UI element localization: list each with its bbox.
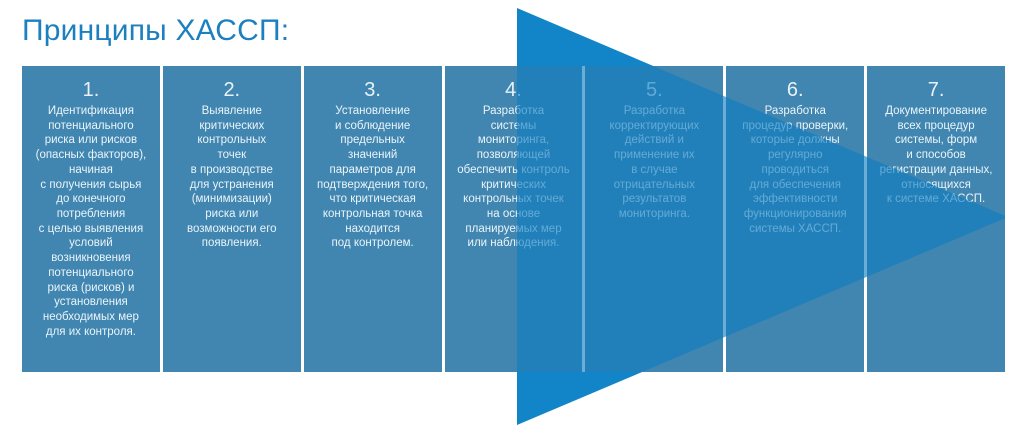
haccp-principles-infographic: Принципы ХАССП: 1. Идентификация потенци… [0,0,1024,434]
principle-column-3: 3. Установление и соблюдение предельных … [304,66,442,372]
principle-number: 3. [310,80,436,101]
principle-text: Выявление критических контрольных точек … [169,104,295,251]
principle-number: 6. [732,80,858,101]
principle-number: 7. [873,80,999,101]
principle-column-2: 2. Выявление критических контрольных точ… [163,66,301,372]
principle-column-5: 5. Разработка корректирующих действий и … [585,66,723,372]
principle-column-6-content: 6. Разработка процедур проверки, которые… [726,66,864,236]
principle-text: Разработка процедур проверки, которые до… [732,104,858,236]
principle-column-7-content: 7. Документирование всех процедур систем… [867,66,1005,207]
principles-column-row: 1. Идентификация потенциального риска ил… [22,66,1005,372]
principle-column-1-content: 1. Идентификация потенциального риска ил… [22,66,160,340]
principle-column-4-content: 4. Разработка системы мониторинга, позво… [445,66,583,251]
principle-number: 2. [169,80,295,101]
page-title: Принципы ХАССП: [22,14,289,48]
principle-column-6: 6. Разработка процедур проверки, которые… [726,66,864,372]
principle-column-2-content: 2. Выявление критических контрольных точ… [163,66,301,251]
principle-column-5-content: 5. Разработка корректирующих действий и … [585,66,723,222]
principle-text: Установление и соблюдение предельных зна… [310,104,436,251]
principle-column-1: 1. Идентификация потенциального риска ил… [22,66,160,372]
principle-text: Документирование всех процедур системы, … [873,104,999,207]
principle-text: Разработка системы мониторинга, позволяю… [451,104,577,251]
principle-column-4: 4. Разработка системы мониторинга, позво… [445,66,583,372]
principle-column-7: 7. Документирование всех процедур систем… [867,66,1005,372]
principle-number: 1. [28,80,154,101]
principle-number: 4. [451,80,577,101]
principle-number: 5. [591,80,717,101]
principle-text: Идентификация потенциального риска или р… [28,104,154,340]
principle-text: Разработка корректирующих действий и при… [591,104,717,222]
principle-column-3-content: 3. Установление и соблюдение предельных … [304,66,442,251]
